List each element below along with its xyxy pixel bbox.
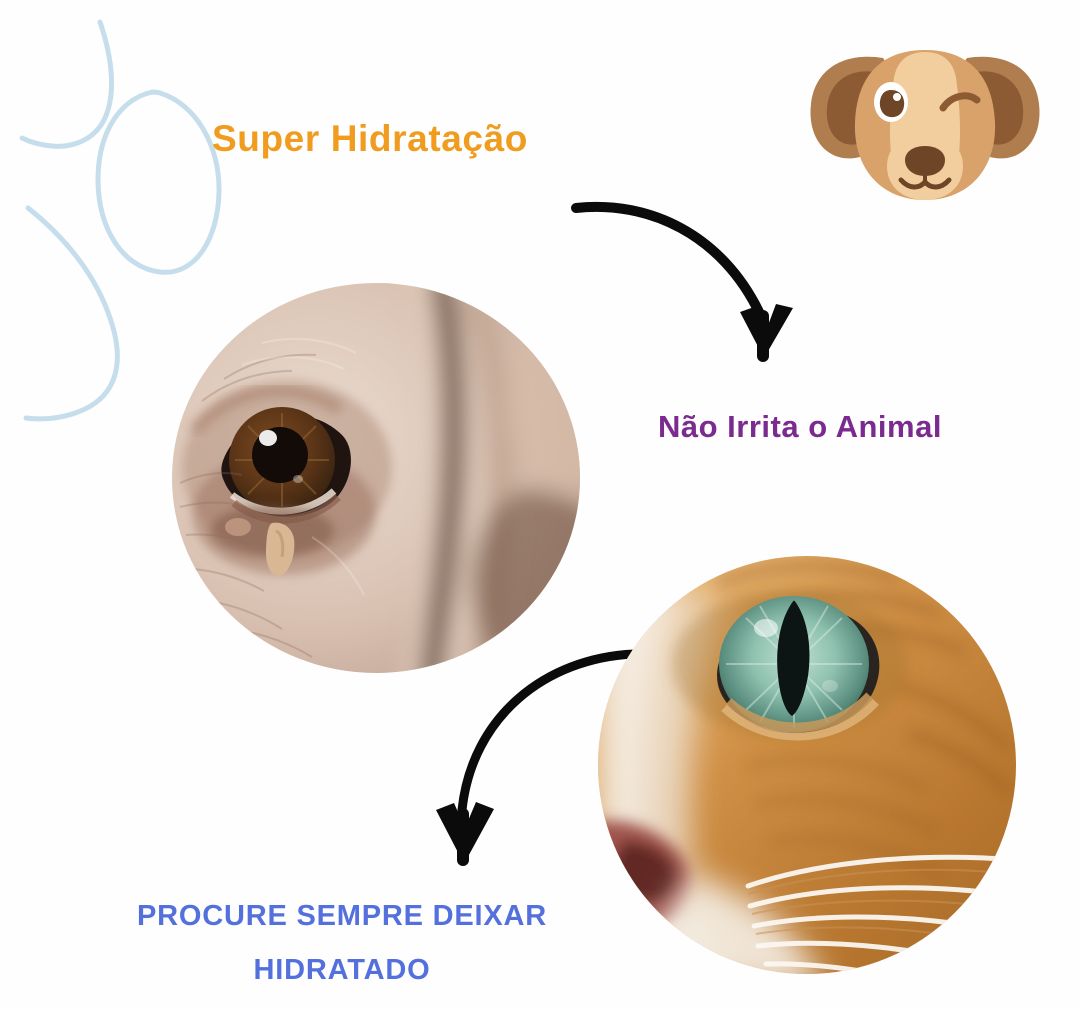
photo-dog-eye <box>172 283 580 673</box>
page-title: Super Hidratação <box>212 118 528 160</box>
poster-canvas: Super Hidratação <box>0 0 1080 1009</box>
curved-arrow-down-right-icon <box>552 186 842 366</box>
callout-nao-irrita: Não Irrita o Animal <box>658 409 942 445</box>
footer-line-2: HIDRATADO <box>52 944 632 998</box>
photo-cat-eye <box>598 556 1016 974</box>
footer-line-1: PROCURE SEMPRE DEIXAR <box>52 890 632 944</box>
footer-caption: PROCURE SEMPRE DEIXAR HIDRATADO <box>52 890 632 997</box>
winking-dog-face-logo <box>805 42 1045 212</box>
